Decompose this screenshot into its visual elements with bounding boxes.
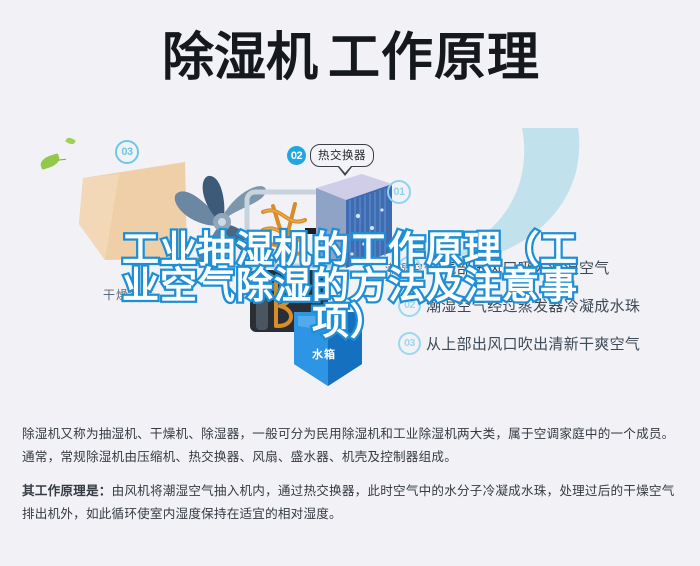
article-paragraph-2-lead: 其工作原理是： (22, 484, 112, 498)
heat-exchanger-callout: 02 热交换器 (287, 144, 374, 167)
badge-01-humid-air: 01 (387, 180, 411, 204)
leaf-icon (65, 136, 76, 146)
article-paragraph-2: 其工作原理是：由风机将潮湿空气抽入机内，通过热交换器，此时空气中的水分子冷凝成水… (22, 480, 680, 526)
header-banner: 除湿机工作原理 (0, 0, 700, 120)
heat-exchanger-bubble-label: 热交换器 (310, 144, 374, 167)
badge-02-heat-exchanger: 02 (287, 146, 306, 165)
article-body: 除湿机又称为抽湿机、干燥机、除湿器，一般可分为民用除湿机和工业除湿机两大类，属于… (0, 405, 700, 566)
badge-03-dry-air: 03 (115, 140, 139, 164)
page-title-part-a: 除湿机 (162, 29, 318, 87)
page-root: 除湿机工作原理 03 干燥空气 (0, 0, 700, 566)
water-tank-label: 水箱 (312, 346, 336, 362)
page-title-part-b: 工作原理 (328, 29, 540, 87)
article-paragraph-1: 除湿机又称为抽湿机、干燥机、除湿器，一般可分为民用除湿机和工业除湿机两大类，属于… (22, 423, 680, 469)
overlay-headline: 工业抽湿机的工作原理（工业空气除湿的方法及注意事项） (0, 232, 700, 340)
page-title: 除湿机工作原理 (162, 32, 540, 84)
leaf-icon (39, 153, 61, 170)
overlay-headline-text: 工业抽湿机的工作原理（工业空气除湿的方法及注意事项） (110, 232, 590, 340)
article-paragraph-2-rest: 由风机将潮湿空气抽入机内，通过热交换器，此时空气中的水分子冷凝成水珠，处理过后的… (22, 484, 675, 521)
